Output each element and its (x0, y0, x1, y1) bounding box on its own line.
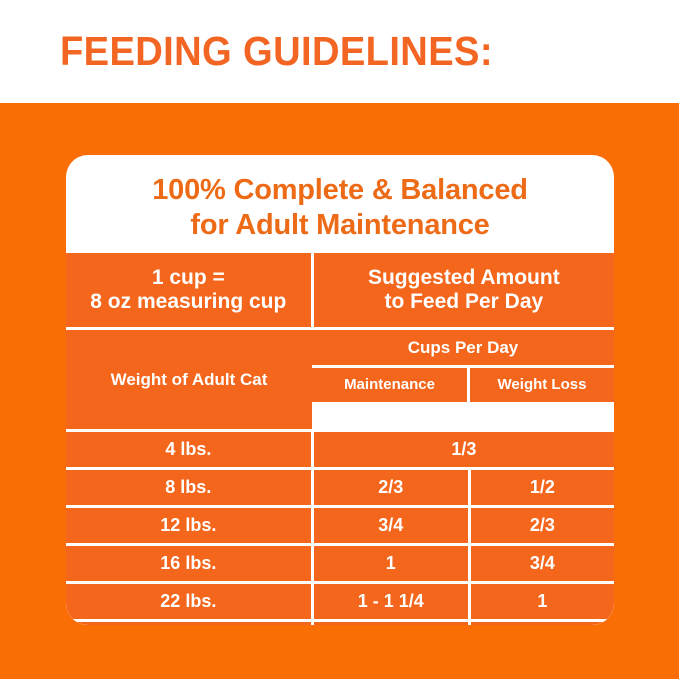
suggested-amount-line-1: Suggested Amount (368, 266, 560, 290)
cell-maintenance: 1 (314, 546, 468, 581)
column-header-weight-of-adult-cat: Weight of Adult Cat (66, 330, 312, 429)
page-banner: FEEDING GUIDELINES: (0, 0, 679, 103)
cell-maintenance: 1 - 1 1/3 (314, 622, 468, 625)
cup-note-line-1: 1 cup = (90, 266, 286, 290)
table-row: 8 lbs. 2/3 1/2 (66, 470, 614, 508)
cell-weight: 25 lbs. (66, 622, 311, 625)
column-header-cups-per-day: Cups Per Day (312, 330, 614, 365)
cell-weight: 8 lbs. (66, 470, 311, 505)
cell-weight: 12 lbs. (66, 508, 311, 543)
table-row-column-headers: Weight of Adult Cat Cups Per Day Mainten… (66, 330, 614, 432)
feeding-guidelines-page: FEEDING GUIDELINES: 100% Complete & Bala… (0, 0, 679, 679)
card-title-line-2: for Adult Maintenance (66, 208, 614, 243)
cup-note-cell: 1 cup = 8 oz measuring cup (66, 253, 311, 327)
cell-weight: 22 lbs. (66, 584, 311, 619)
cups-sub-headers: Maintenance Weight Loss (312, 368, 614, 405)
cell-weight: 16 lbs. (66, 546, 311, 581)
cell-maintenance: 2/3 (314, 470, 468, 505)
column-header-maintenance: Maintenance (312, 368, 467, 402)
feeding-table: 1 cup = 8 oz measuring cup Suggested Amo… (66, 253, 614, 625)
column-header-weight-loss: Weight Loss (470, 368, 614, 402)
suggested-amount-cell: Suggested Amount to Feed Per Day (314, 253, 614, 327)
cell-maintenance: 1 - 1 1/4 (314, 584, 468, 619)
table-row: 25 lbs. 1 - 1 1/3 1 (66, 622, 614, 625)
cell-weight-loss: 2/3 (471, 508, 614, 543)
card-title: 100% Complete & Balanced for Adult Maint… (66, 155, 614, 244)
cell-maintenance: 3/4 (314, 508, 468, 543)
cups-per-day-group: Cups Per Day Maintenance Weight Loss (312, 330, 614, 432)
table-row: 4 lbs. 1/3 (66, 432, 614, 470)
table-row: 22 lbs. 1 - 1 1/4 1 (66, 584, 614, 622)
cell-weight-loss: 1 (471, 584, 614, 619)
table-row-note-header: 1 cup = 8 oz measuring cup Suggested Amo… (66, 253, 614, 330)
cell-weight-loss: 3/4 (471, 546, 614, 581)
cell-weight: 4 lbs. (66, 432, 311, 467)
feeding-card: 100% Complete & Balanced for Adult Maint… (66, 155, 614, 625)
table-row: 16 lbs. 1 3/4 (66, 546, 614, 584)
cell-merged-amount: 1/3 (314, 432, 614, 467)
cup-note-line-2: 8 oz measuring cup (90, 290, 286, 314)
cell-weight-loss: 1 (471, 622, 614, 625)
table-row: 12 lbs. 3/4 2/3 (66, 508, 614, 546)
suggested-amount-line-2: to Feed Per Day (368, 290, 560, 314)
cell-weight-loss: 1/2 (471, 470, 614, 505)
card-title-line-1: 100% Complete & Balanced (66, 173, 614, 208)
page-title: FEEDING GUIDELINES: (60, 28, 493, 75)
